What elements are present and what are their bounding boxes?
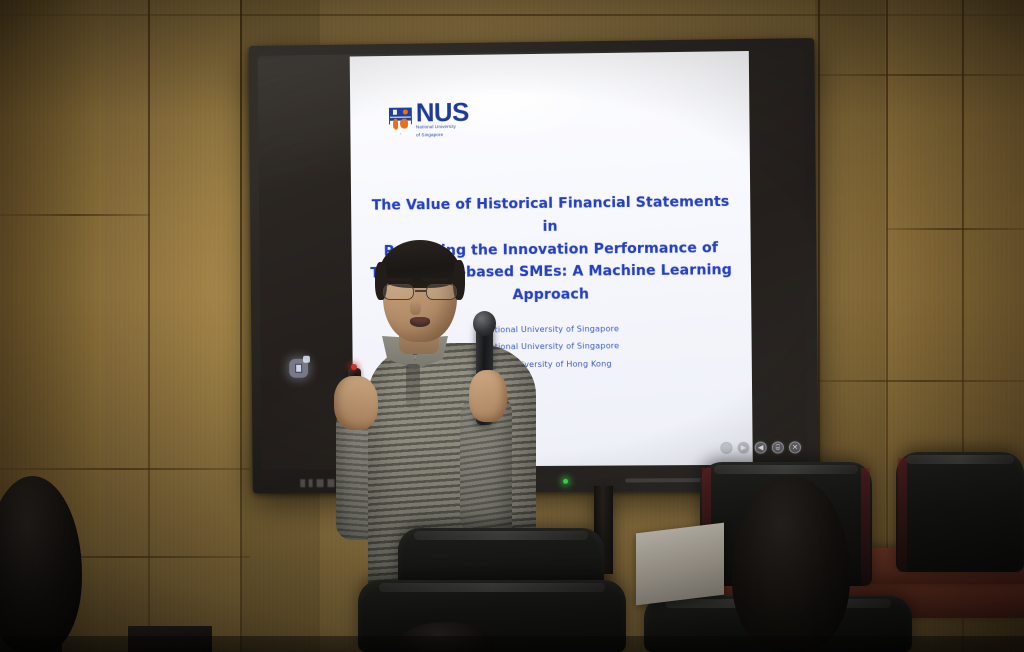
nus-shield-icon xyxy=(389,107,412,134)
eyeglasses-icon xyxy=(382,284,458,301)
nus-wordmark: NUS xyxy=(416,101,469,124)
grid-menu-icon[interactable]: ⌸ xyxy=(772,441,784,453)
close-icon[interactable]: ✕ xyxy=(789,441,801,453)
audience-laptop[interactable] xyxy=(636,523,724,606)
presenter-left-hand xyxy=(334,376,378,430)
wall-seam xyxy=(0,468,250,470)
wall-seam xyxy=(148,0,150,652)
media-prev-icon[interactable] xyxy=(720,442,732,454)
nus-subtitle-line-2: of Singapore xyxy=(416,132,469,140)
volume-icon[interactable]: ◀ xyxy=(755,442,767,454)
presenter-eyebrow xyxy=(386,278,412,281)
presentation-photo-scene: NUS National University of Singapore The… xyxy=(0,0,1024,652)
play-icon[interactable]: ▶ xyxy=(737,442,749,454)
presenter-mouth xyxy=(410,317,430,327)
wall-seam xyxy=(886,228,1024,230)
presenter-eyebrow xyxy=(422,278,448,281)
nus-logo: NUS National University of Singapore xyxy=(389,101,469,140)
slide-title-line: The Value of Historical Financial Statem… xyxy=(365,191,737,241)
foreground-shadow xyxy=(0,636,1024,652)
presenter-placket xyxy=(406,364,420,408)
wall-seam xyxy=(0,214,150,216)
presenter-right-hand xyxy=(469,370,507,422)
presenter-nose xyxy=(410,300,421,315)
media-control-bar[interactable]: ▶ ◀ ⌸ ✕ xyxy=(720,441,801,454)
presentation-badge-icon[interactable] xyxy=(289,359,308,378)
speaker-grille xyxy=(625,478,711,482)
conference-chair[interactable] xyxy=(896,452,1024,572)
